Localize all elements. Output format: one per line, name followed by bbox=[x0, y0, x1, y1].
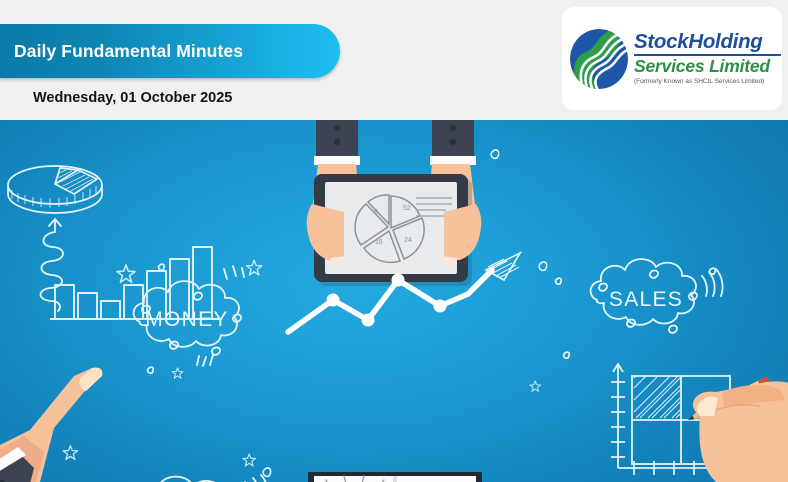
logo-line-secondary: Services Limited bbox=[634, 57, 781, 75]
publication-date: Wednesday, 01 October 2025 bbox=[33, 90, 232, 106]
svg-text:24: 24 bbox=[404, 237, 412, 244]
stockholding-swirl-logo-mark bbox=[568, 26, 630, 92]
hero-illustration: MONEY SALES bbox=[0, 120, 788, 482]
logo-tagline: (Formerly Known as SHCIL Services Limite… bbox=[634, 78, 781, 85]
brand-logo: StockHolding Services Limited (Formerly … bbox=[562, 7, 782, 110]
page-title: Daily Fundamental Minutes bbox=[0, 41, 243, 62]
svg-text:8: 8 bbox=[374, 209, 378, 216]
cloud-business: BUSINESS bbox=[94, 475, 269, 482]
header-bar: Daily Fundamental Minutes Wednesday, 01 … bbox=[0, 0, 788, 120]
svg-text:52: 52 bbox=[403, 205, 411, 212]
hand-with-pencil bbox=[686, 377, 788, 482]
title-banner: Daily Fundamental Minutes bbox=[0, 24, 340, 78]
spring-coil-arrow-doodle bbox=[41, 219, 64, 311]
pie-chart-3d-coin-doodle bbox=[8, 166, 102, 213]
logo-wordmark: StockHolding Services Limited (Formerly … bbox=[634, 32, 781, 84]
star-doodles bbox=[63, 260, 680, 482]
logo-line-primary: StockHolding bbox=[634, 32, 781, 53]
hands-holding-open-book: StockHolding Services Limited bbox=[280, 472, 509, 482]
cloud-sales: SALES bbox=[591, 259, 723, 333]
arrow-flag-hatched bbox=[486, 253, 520, 280]
pointing-hand-in-suit bbox=[0, 368, 102, 482]
poster-canvas: Daily Fundamental Minutes Wednesday, 01 … bbox=[0, 0, 788, 482]
hands-holding-tablet: 52 24 16 8 bbox=[307, 120, 482, 286]
hero-artwork: MONEY SALES bbox=[0, 120, 788, 482]
svg-text:16: 16 bbox=[375, 239, 383, 246]
cloud-label-sales: SALES bbox=[609, 288, 683, 311]
